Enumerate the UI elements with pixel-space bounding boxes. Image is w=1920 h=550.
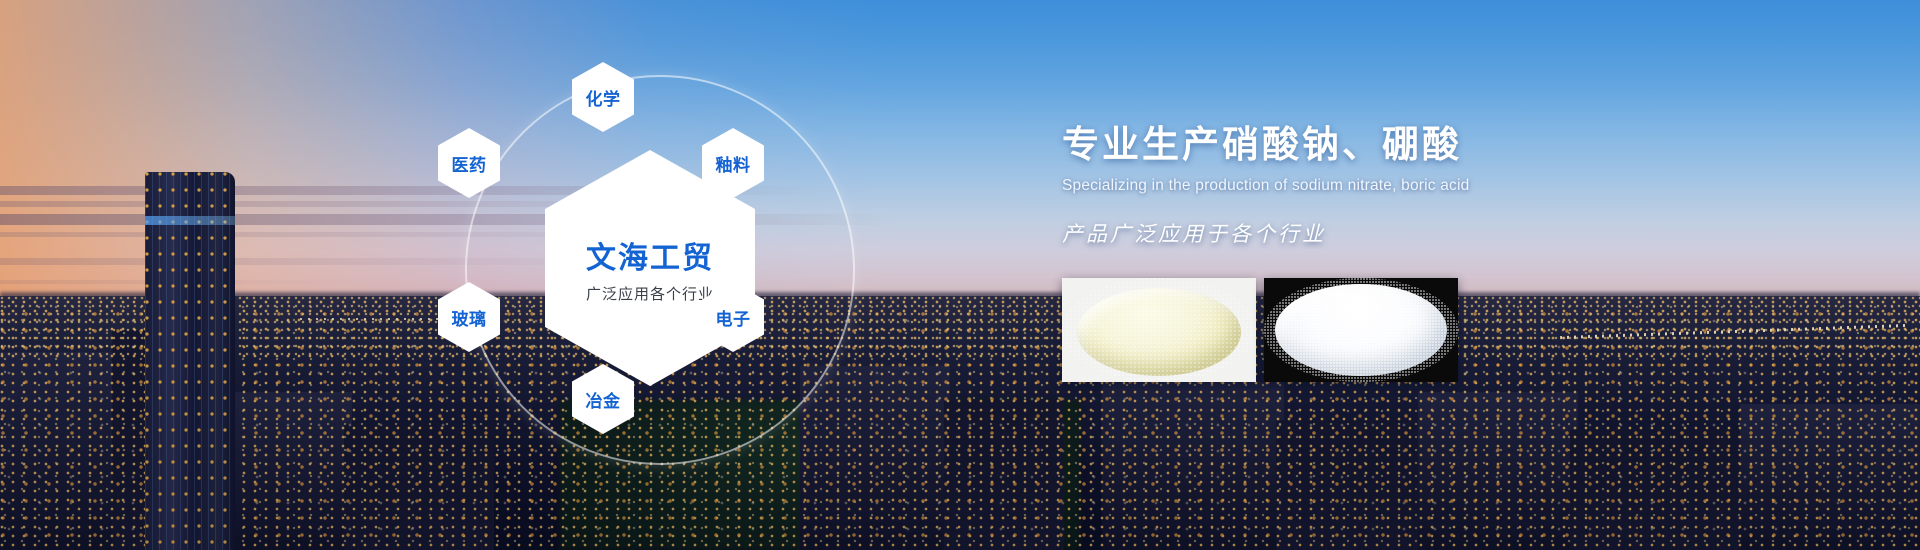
color-tint-overlay [0,0,1920,550]
powder-grain-texture [1062,278,1256,382]
industry-hexagon-diagram: 文海工贸 广泛应用各个行业 化学 釉料 电子 冶金 玻璃 医药 [430,30,930,530]
city-skyline-background [0,0,1920,550]
hero-banner: 文海工贸 广泛应用各个行业 化学 釉料 电子 冶金 玻璃 医药 专业生产硝酸钠、… [0,0,1920,550]
product-photo-sodium-nitrate [1062,278,1256,382]
company-tagline: 广泛应用各个行业 [586,283,714,304]
tagline: 产品广泛应用于各个行业 [1062,218,1702,248]
hexagon-label: 玻璃 [452,305,487,330]
headline-english: Specializing in the production of sodium… [1062,177,1702,195]
hexagon-label: 医药 [452,151,487,176]
hexagon-label: 化学 [586,85,621,110]
product-photo-group [1062,278,1458,382]
powder-grain-texture [1264,278,1458,382]
hexagon-label: 釉料 [716,151,751,176]
product-photo-boric-acid [1264,278,1458,382]
headline: 专业生产硝酸钠、硼酸 [1062,125,1702,166]
banner-copy-block: 专业生产硝酸钠、硼酸 Specializing in the productio… [1062,125,1702,248]
company-name: 文海工贸 [586,233,714,277]
hexagon-label: 电子 [716,305,751,330]
hexagon-label: 冶金 [586,387,621,412]
